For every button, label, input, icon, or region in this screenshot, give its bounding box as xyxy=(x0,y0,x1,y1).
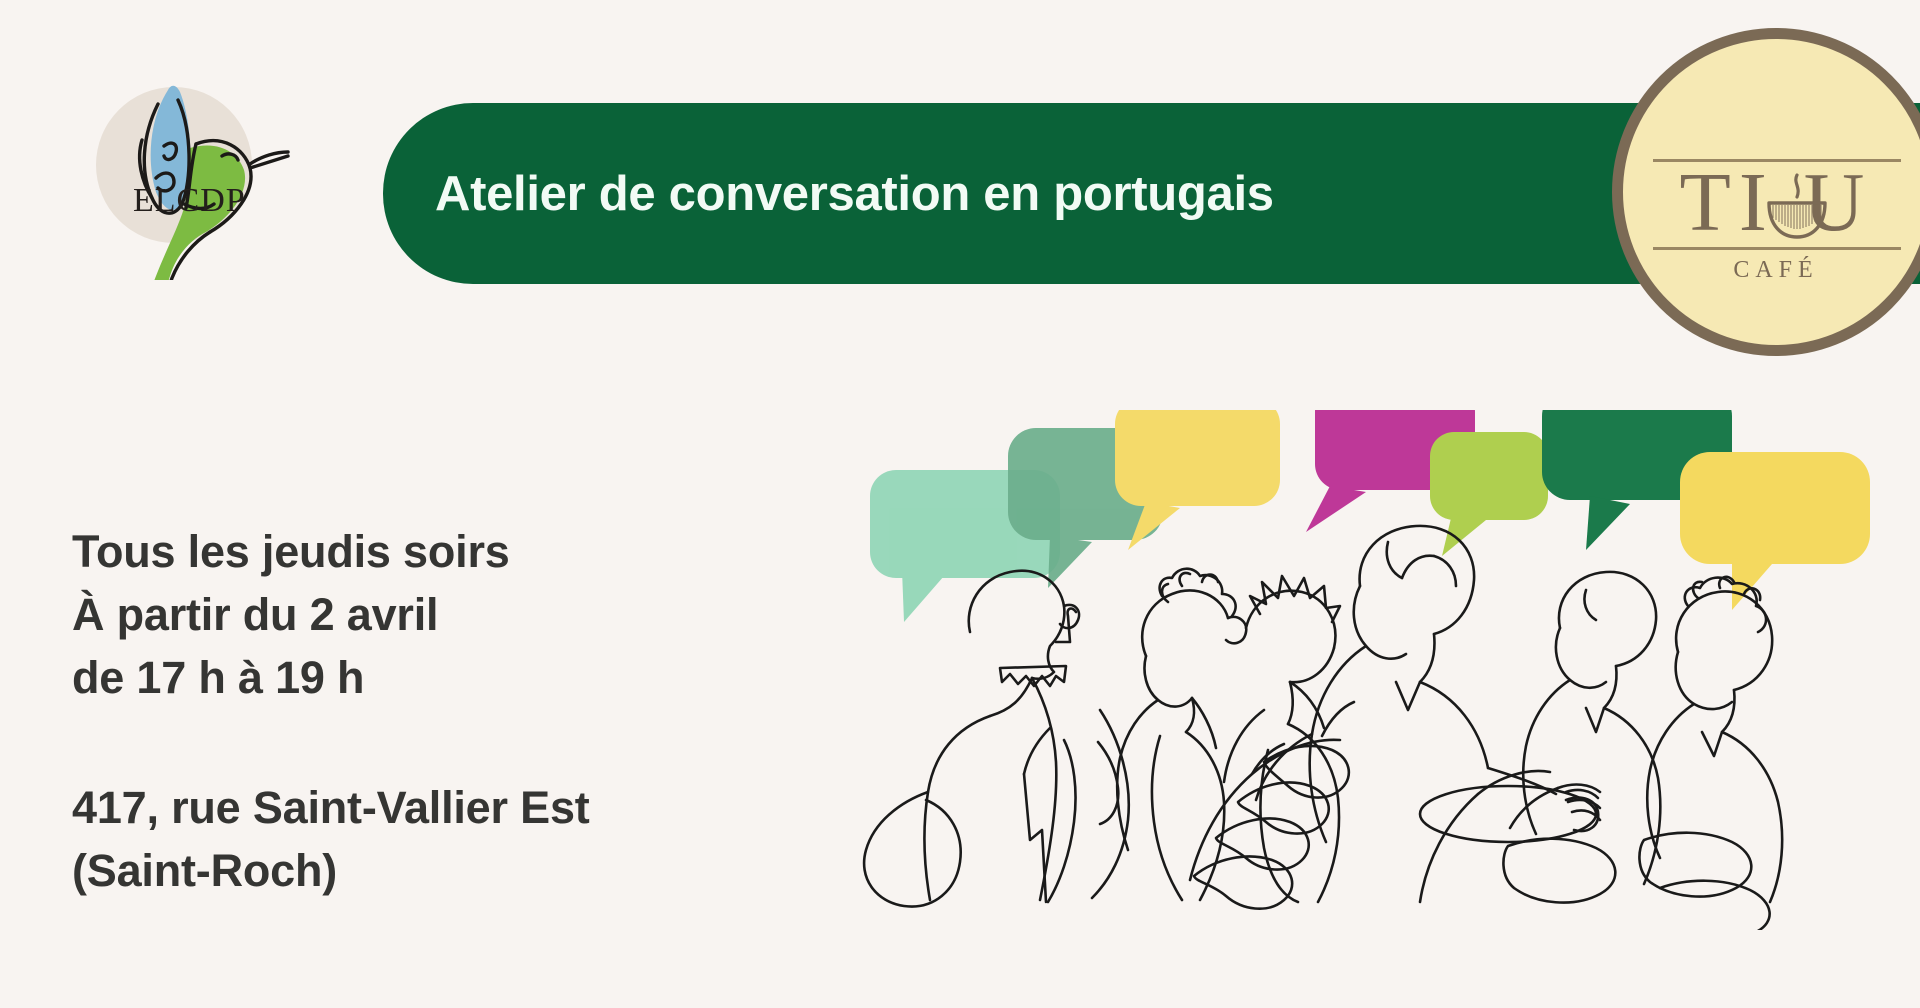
page-title: Atelier de conversation en portugais xyxy=(435,166,1274,222)
poster-canvas: Atelier de conversation en portugais ELC… xyxy=(0,0,1920,1008)
bubble-lime-icon xyxy=(1430,432,1548,556)
bubble-yellow-right-icon xyxy=(1680,452,1870,610)
speech-bubble-group xyxy=(870,410,1870,622)
coffee-cup-icon xyxy=(1761,173,1833,243)
schedule-block: Tous les jeudis soirs À partir du 2 avri… xyxy=(72,520,872,709)
elcdp-wordmark: ELCDP xyxy=(133,182,246,220)
schedule-line-3: de 17 h à 19 h xyxy=(72,646,872,709)
schedule-line-2: À partir du 2 avril xyxy=(72,583,872,646)
tizu-rule-bottom xyxy=(1653,247,1901,250)
people-conversation-illustration xyxy=(860,410,1870,930)
line-art-figures xyxy=(864,526,1782,930)
bubble-yellow-left-icon xyxy=(1115,410,1280,550)
address-line-2: (Saint-Roch) xyxy=(72,839,872,902)
elcdp-hummingbird-icon xyxy=(72,60,302,280)
tizu-tagline: CAFÉ xyxy=(1623,257,1920,284)
tizu-cafe-badge: TI U CAF xyxy=(1612,28,1920,356)
schedule-line-1: Tous les jeudis soirs xyxy=(72,520,872,583)
address-block: 417, rue Saint-Vallier Est (Saint-Roch) xyxy=(72,776,872,902)
address-line-1: 417, rue Saint-Vallier Est xyxy=(72,776,872,839)
